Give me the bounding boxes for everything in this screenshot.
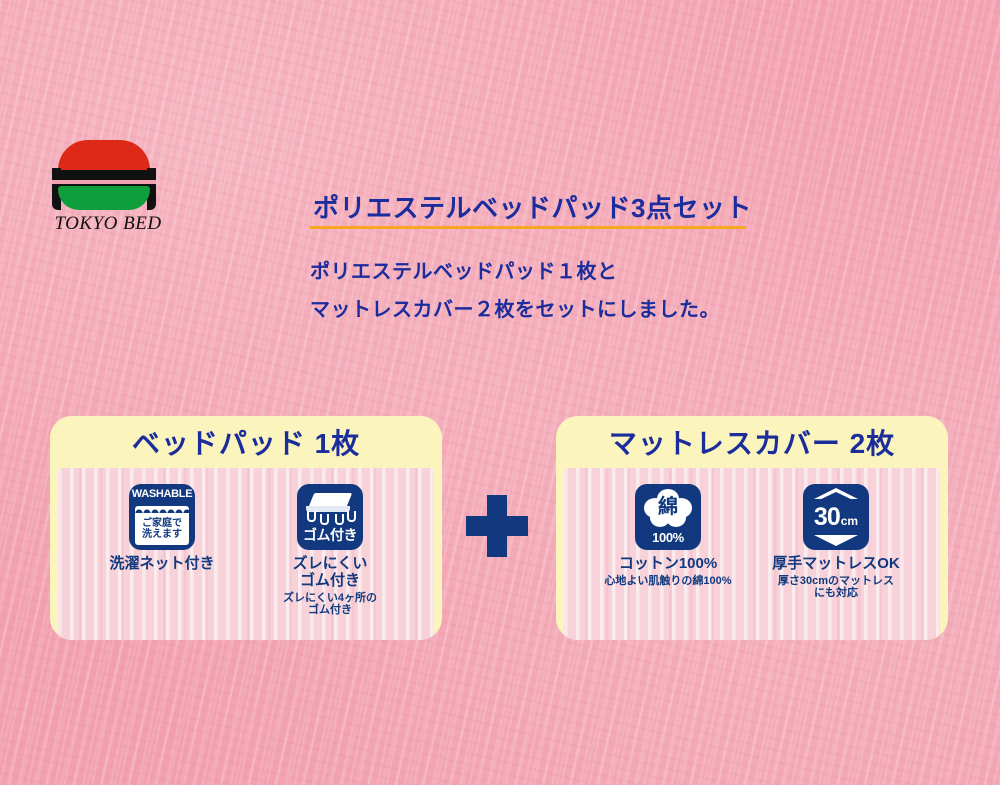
card-mattress-cover-body: 綿 100% コットン100% 心地よい肌触りの綿100% 30 cm [564,468,940,640]
washable-icon-caption-line2: 洗えます [142,529,182,541]
logo-wordmark: TOKYO BED [52,213,164,235]
elastic-strap-2 [320,514,329,525]
title-underline [310,226,746,229]
subtitle-line-1: ポリエステルベッドパッド１枚と [310,255,618,284]
arrow-down-icon [814,535,858,546]
card-mattress-cover-title: マットレスカバー 2枚 [609,422,895,462]
feature-thickness-sub-line1: 厚さ30cmのマットレス [761,575,911,588]
tokyo-bed-logo-mark [52,140,156,208]
page-title: ポリエステルベッドパッド3点セット [313,188,752,225]
feature-elastic-title-line2: ゴム付き [255,573,405,590]
card-bed-pad: ベッドパッド 1枚 WASHABLE ご家庭で 洗えます 洗濯ネット付き [50,416,442,640]
thickness-number: 30 [814,503,840,532]
feature-thickness-title: 厚手マットレスOK [761,556,911,573]
feature-cotton: 綿 100% コットン100% 心地よい肌触りの綿100% [593,484,743,587]
feature-elastic-sub-line2: ゴム付き [255,604,405,617]
feature-cotton-sub-line1: 心地よい肌触りの綿100% [593,575,743,588]
cotton-icon-boll: 綿 [644,489,692,527]
feature-thickness: 30 cm 厚手マットレスOK 厚さ30cmのマットレス にも対応 [761,484,911,600]
cotton-icon-percent: 100% [635,530,701,545]
washable-icon: WASHABLE ご家庭で 洗えます [129,484,195,550]
cotton-icon-kanji: 綿 [644,497,692,517]
elastic-strap-1 [307,511,316,522]
logo-green-base [58,186,150,210]
feature-elastic-sub-line1: ズレにくい4ヶ所の [255,592,405,605]
feature-thickness-sub: 厚さ30cmのマットレス にも対応 [761,575,911,600]
washable-icon-caption-line1: ご家庭で [142,518,182,530]
cotton-icon: 綿 100% [635,484,701,550]
washable-icon-caption: ご家庭で 洗えます [135,513,189,545]
feature-elastic-sub: ズレにくい4ヶ所の ゴム付き [255,592,405,617]
washable-icon-word: WASHABLE [129,488,195,500]
feature-thickness-sub-line2: にも対応 [761,587,911,600]
elastic-pad-icon: ゴム付き [297,484,363,550]
card-bed-pad-header: ベッドパッド 1枚 [50,416,442,468]
elastic-pad-icon-label: ゴム付き [297,525,363,545]
feature-cotton-title: コットン100% [593,556,743,573]
card-bed-pad-body: WASHABLE ご家庭で 洗えます 洗濯ネット付き [58,468,434,640]
feature-washable-title: 洗濯ネット付き [87,556,237,573]
card-bed-pad-title: ベッドパッド 1枚 [132,422,360,462]
plus-icon-vertical [487,495,507,557]
thickness-30cm-icon: 30 cm [803,484,869,550]
promo-page: TOKYO BED ポリエステルベッドパッド3点セット ポリエステルベッドパッド… [0,0,1000,785]
elastic-strap-3 [335,514,344,525]
washable-icon-tub: ご家庭で 洗えます [135,506,189,545]
arrow-up-icon-inner [817,492,855,501]
card-mattress-cover: マットレスカバー 2枚 綿 100% コットン100% [556,416,948,640]
card-mattress-cover-header: マットレスカバー 2枚 [556,416,948,468]
thickness-unit: cm [841,514,858,528]
tokyo-bed-logo: TOKYO BED [52,140,164,236]
feature-elastic-title-line1: ズレにくい [255,556,405,573]
logo-bar-upper [52,170,156,180]
feature-elastic: ゴム付き ズレにくい ゴム付き ズレにくい4ヶ所の ゴム付き [255,484,405,617]
plus-icon [466,495,528,557]
elastic-pad-icon-mattress [305,493,355,515]
thickness-30cm-icon-value: 30 cm [803,503,869,531]
washable-icon-wave [135,506,189,513]
elastic-strap-4 [347,511,356,522]
feature-elastic-title: ズレにくい ゴム付き [255,556,405,590]
feature-washable: WASHABLE ご家庭で 洗えます 洗濯ネット付き [87,484,237,573]
feature-cotton-sub: 心地よい肌触りの綿100% [593,575,743,588]
subtitle-line-2: マットレスカバー２枚をセットにしました。 [310,293,720,322]
